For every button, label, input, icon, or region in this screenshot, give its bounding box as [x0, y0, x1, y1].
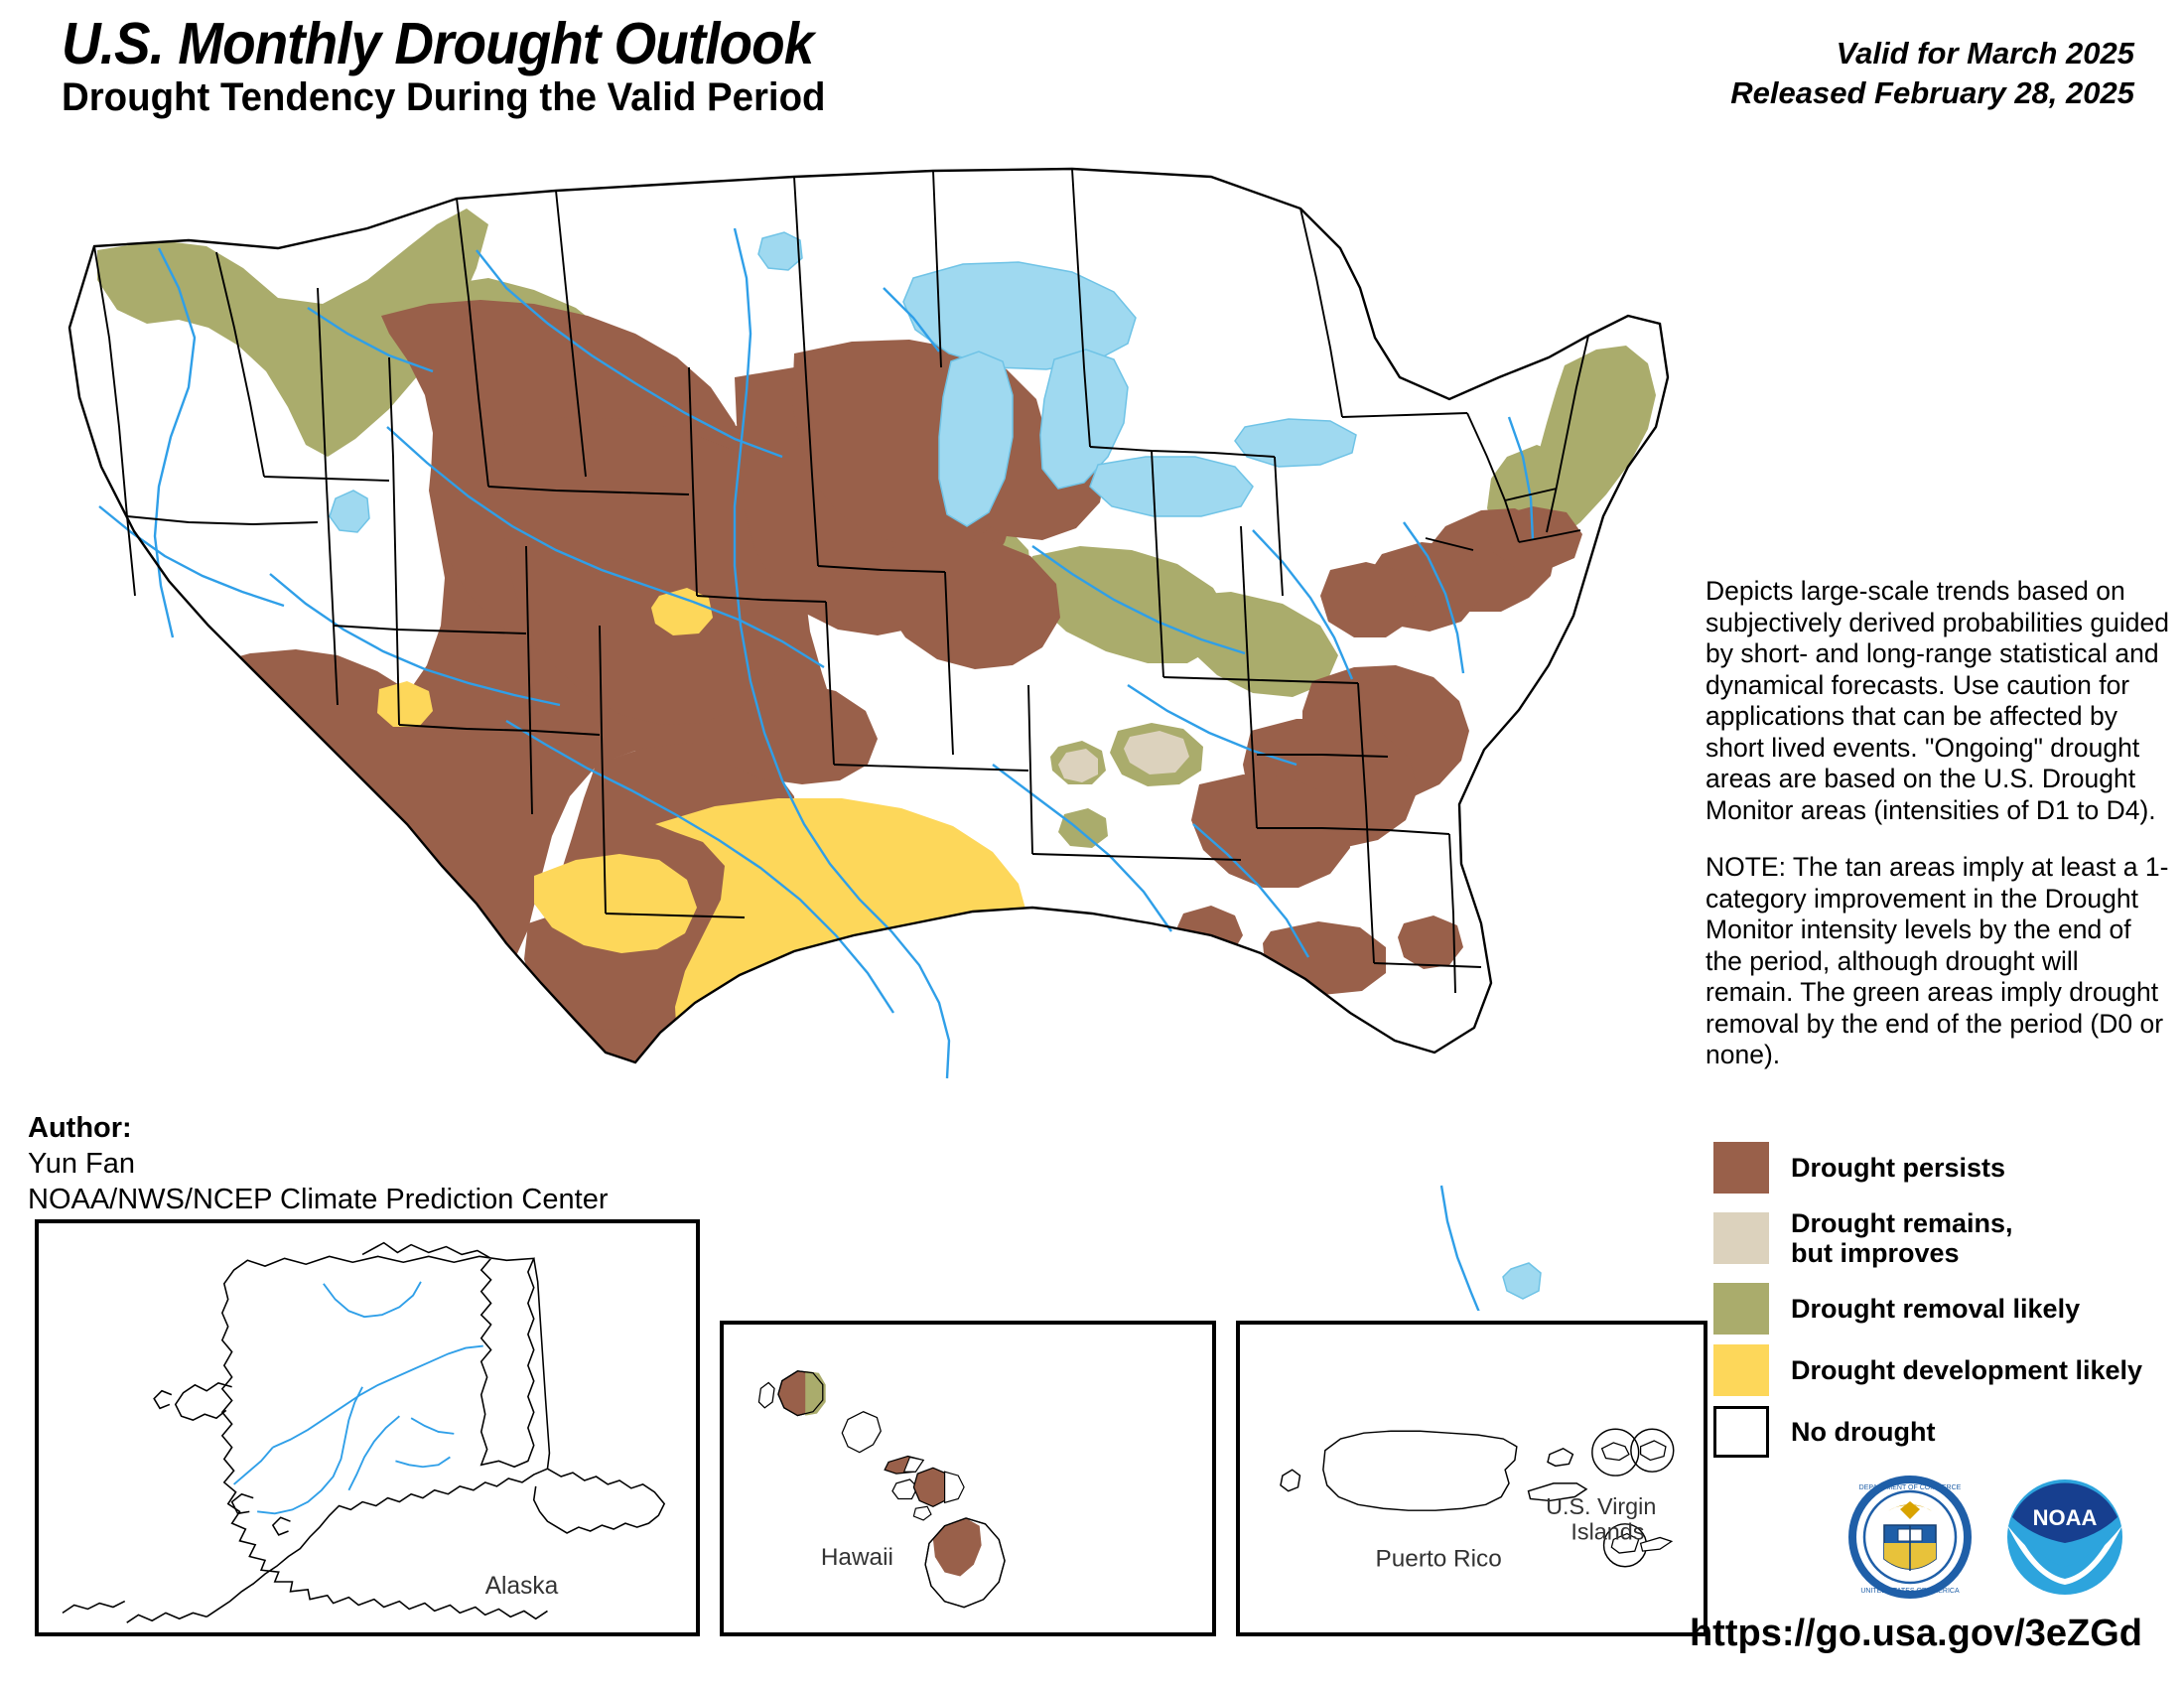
- legend-item-drought-removal: Drought removal likely: [1713, 1281, 2180, 1336]
- usvi-inset-label-line1: U.S. Virgin: [1546, 1493, 1656, 1519]
- hawaii-kauai: [778, 1371, 826, 1416]
- page-header: U.S. Monthly Drought Outlook Drought Ten…: [0, 0, 2184, 139]
- description-paragraph-2: NOTE: The tan areas imply at least a 1-c…: [1706, 852, 2172, 1071]
- hawaii-molokai: [885, 1457, 923, 1475]
- legend-swatch-removal: [1713, 1283, 1769, 1335]
- legend-label-remains: Drought remains, but improves: [1791, 1208, 2013, 1268]
- author-affiliation: NOAA/NWS/NCEP Climate Prediction Center: [28, 1182, 608, 1217]
- legend-label-remains-line1: Drought remains,: [1791, 1208, 2013, 1238]
- alaska-inset-label: Alaska: [485, 1573, 559, 1600]
- author-block: Author: Yun Fan NOAA/NWS/NCEP Climate Pr…: [28, 1110, 608, 1217]
- legend-swatch-none: [1713, 1406, 1769, 1458]
- agency-logos: DEPARTMENT OF COMMERCE UNITED STATES OF …: [1848, 1468, 2146, 1607]
- legend-label-removal: Drought removal likely: [1791, 1294, 2080, 1324]
- puerto-rico-inset-map: Puerto Rico U.S. Virgin Islands: [1236, 1321, 1707, 1636]
- author-name: Yun Fan: [28, 1146, 608, 1182]
- legend-label-persist: Drought persists: [1791, 1153, 2005, 1183]
- shortlink-url[interactable]: https://go.usa.gov/3eZGd: [1690, 1613, 2142, 1655]
- noaa-logo: NOAA: [2007, 1479, 2122, 1595]
- legend-item-drought-persists: Drought persists: [1713, 1140, 2180, 1196]
- legend-swatch-remains: [1713, 1212, 1769, 1264]
- page-title: U.S. Monthly Drought Outlook: [62, 10, 813, 77]
- legend-swatch-persist: [1713, 1142, 1769, 1194]
- legend-label-none: No drought: [1791, 1417, 1935, 1447]
- legend-label-develop: Drought development likely: [1791, 1355, 2142, 1385]
- released-date-label: Released February 28, 2025: [1730, 75, 2134, 111]
- legend-item-drought-remains: Drought remains, but improves: [1713, 1201, 2180, 1275]
- hawaii-oahu: [842, 1412, 881, 1453]
- author-heading: Author:: [28, 1110, 608, 1146]
- description-panel: Depicts large-scale trends based on subj…: [1706, 576, 2172, 1097]
- legend-item-drought-development: Drought development likely: [1713, 1342, 2180, 1398]
- hawaii-inset-label: Hawaii: [821, 1544, 893, 1571]
- alaska-inset-map: Alaska: [35, 1219, 700, 1636]
- map-legend: Drought persists Drought remains, but im…: [1713, 1140, 2180, 1466]
- valid-period-label: Valid for March 2025: [1837, 36, 2134, 71]
- description-paragraph-1: Depicts large-scale trends based on subj…: [1706, 576, 2172, 826]
- hawaii-lanai: [892, 1479, 917, 1498]
- legend-swatch-develop: [1713, 1344, 1769, 1396]
- department-of-commerce-seal: DEPARTMENT OF COMMERCE UNITED STATES OF …: [1852, 1479, 1968, 1595]
- hawaii-kahoolawe: [913, 1506, 931, 1520]
- hawaii-inset-map: Hawaii: [720, 1321, 1216, 1636]
- svg-text:DEPARTMENT OF COMMERCE: DEPARTMENT OF COMMERCE: [1859, 1484, 1962, 1491]
- hawaii-big-island: [925, 1518, 1005, 1608]
- noaa-logo-text: NOAA: [2033, 1505, 2098, 1530]
- legend-label-remains-line2: but improves: [1791, 1238, 2013, 1268]
- hawaii-maui: [913, 1468, 964, 1506]
- legend-item-no-drought: No drought: [1713, 1404, 2180, 1460]
- hawaii-niihau: [758, 1382, 774, 1407]
- svg-text:UNITED STATES OF AMERICA: UNITED STATES OF AMERICA: [1860, 1588, 1960, 1595]
- usvi-inset-label-line2: Islands: [1570, 1518, 1644, 1544]
- page-subtitle: Drought Tendency During the Valid Period: [62, 75, 825, 120]
- puerto-rico-inset-label: Puerto Rico: [1376, 1546, 1502, 1573]
